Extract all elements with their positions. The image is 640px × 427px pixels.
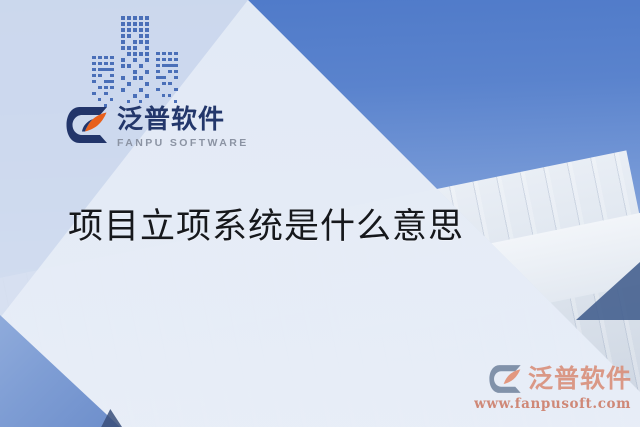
watermark: 泛普软件 www.fanpusoft.com bbox=[474, 364, 632, 412]
watermark-name-cn: 泛普软件 bbox=[528, 366, 632, 391]
fanpu-logo-mark-icon bbox=[66, 106, 110, 144]
fanpu-watermark-mark-icon bbox=[489, 364, 523, 394]
watermark-logo-row: 泛普软件 bbox=[489, 364, 632, 394]
watermark-url: www.fanpusoft.com bbox=[474, 398, 631, 412]
page-title: 项目立项系统是什么意思 bbox=[68, 207, 464, 248]
promo-banner: 泛普软件 FANPU SOFTWARE 项目立项系统是什么意思 泛普软件 www… bbox=[0, 0, 640, 427]
brand-name-cn: 泛普软件 bbox=[117, 107, 249, 133]
brand-name-en: FANPU SOFTWARE bbox=[117, 138, 249, 149]
brand-text: 泛普软件 FANPU SOFTWARE bbox=[117, 106, 249, 149]
brand-logo: 泛普软件 FANPU SOFTWARE bbox=[66, 106, 249, 149]
pixel-skyline-icon bbox=[88, 12, 182, 110]
